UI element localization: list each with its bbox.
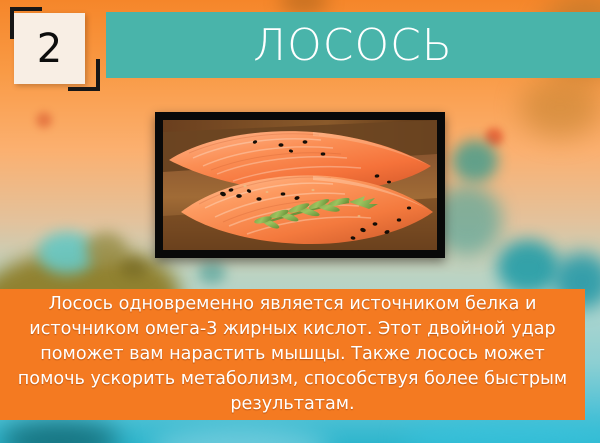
slide-canvas: ЛОСОСЬ 2	[0, 0, 600, 443]
background-blob	[520, 78, 600, 138]
number-badge: 2	[6, 5, 104, 97]
background-blob	[120, 258, 148, 278]
background-blob	[497, 240, 559, 294]
page-title: ЛОСОСЬ	[106, 12, 600, 78]
background-blob	[198, 262, 226, 284]
background-blob	[452, 140, 498, 182]
badge-number-label: 2	[14, 13, 85, 84]
background-blob	[86, 232, 126, 268]
caption-box: Лосось одновременно является источником …	[0, 289, 585, 420]
background-blob	[36, 112, 52, 128]
photo-frame	[155, 112, 445, 258]
salmon-photo	[163, 120, 437, 250]
caption-text: Лосось одновременно является источником …	[15, 292, 571, 417]
